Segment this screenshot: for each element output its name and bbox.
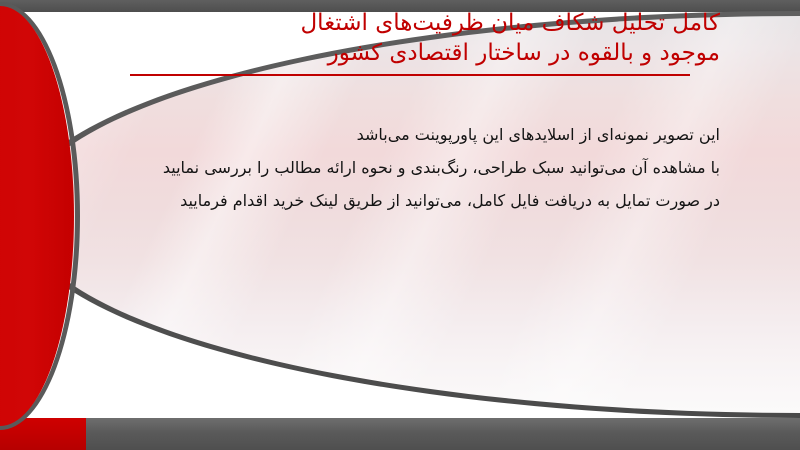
- slide-body-line-1: این تصویر نمونه‌ای از اسلایدهای این پاور…: [110, 118, 720, 151]
- slide-title: کامل تحلیل شکاف میان ظرفیت‌های اشتغال مو…: [130, 8, 720, 68]
- title-underline-rule: [130, 74, 690, 76]
- slide-title-line-2: موجود و بالقوه در ساختار اقتصادی کشور: [130, 38, 720, 68]
- presentation-slide: کامل تحلیل شکاف میان ظرفیت‌های اشتغال مو…: [0, 0, 800, 450]
- slide-body-line-3: در صورت تمایل به دریافت فایل کامل، می‌تو…: [110, 184, 720, 217]
- slide-title-line-1: کامل تحلیل شکاف میان ظرفیت‌های اشتغال: [130, 8, 720, 38]
- slide-body-line-2: با مشاهده آن می‌توانید سبک طراحی، رنگ‌بن…: [110, 151, 720, 184]
- bottom-gray-band: [0, 418, 800, 450]
- slide-body: این تصویر نمونه‌ای از اسلایدهای این پاور…: [110, 118, 720, 217]
- red-ellipse-shape: [0, 6, 74, 426]
